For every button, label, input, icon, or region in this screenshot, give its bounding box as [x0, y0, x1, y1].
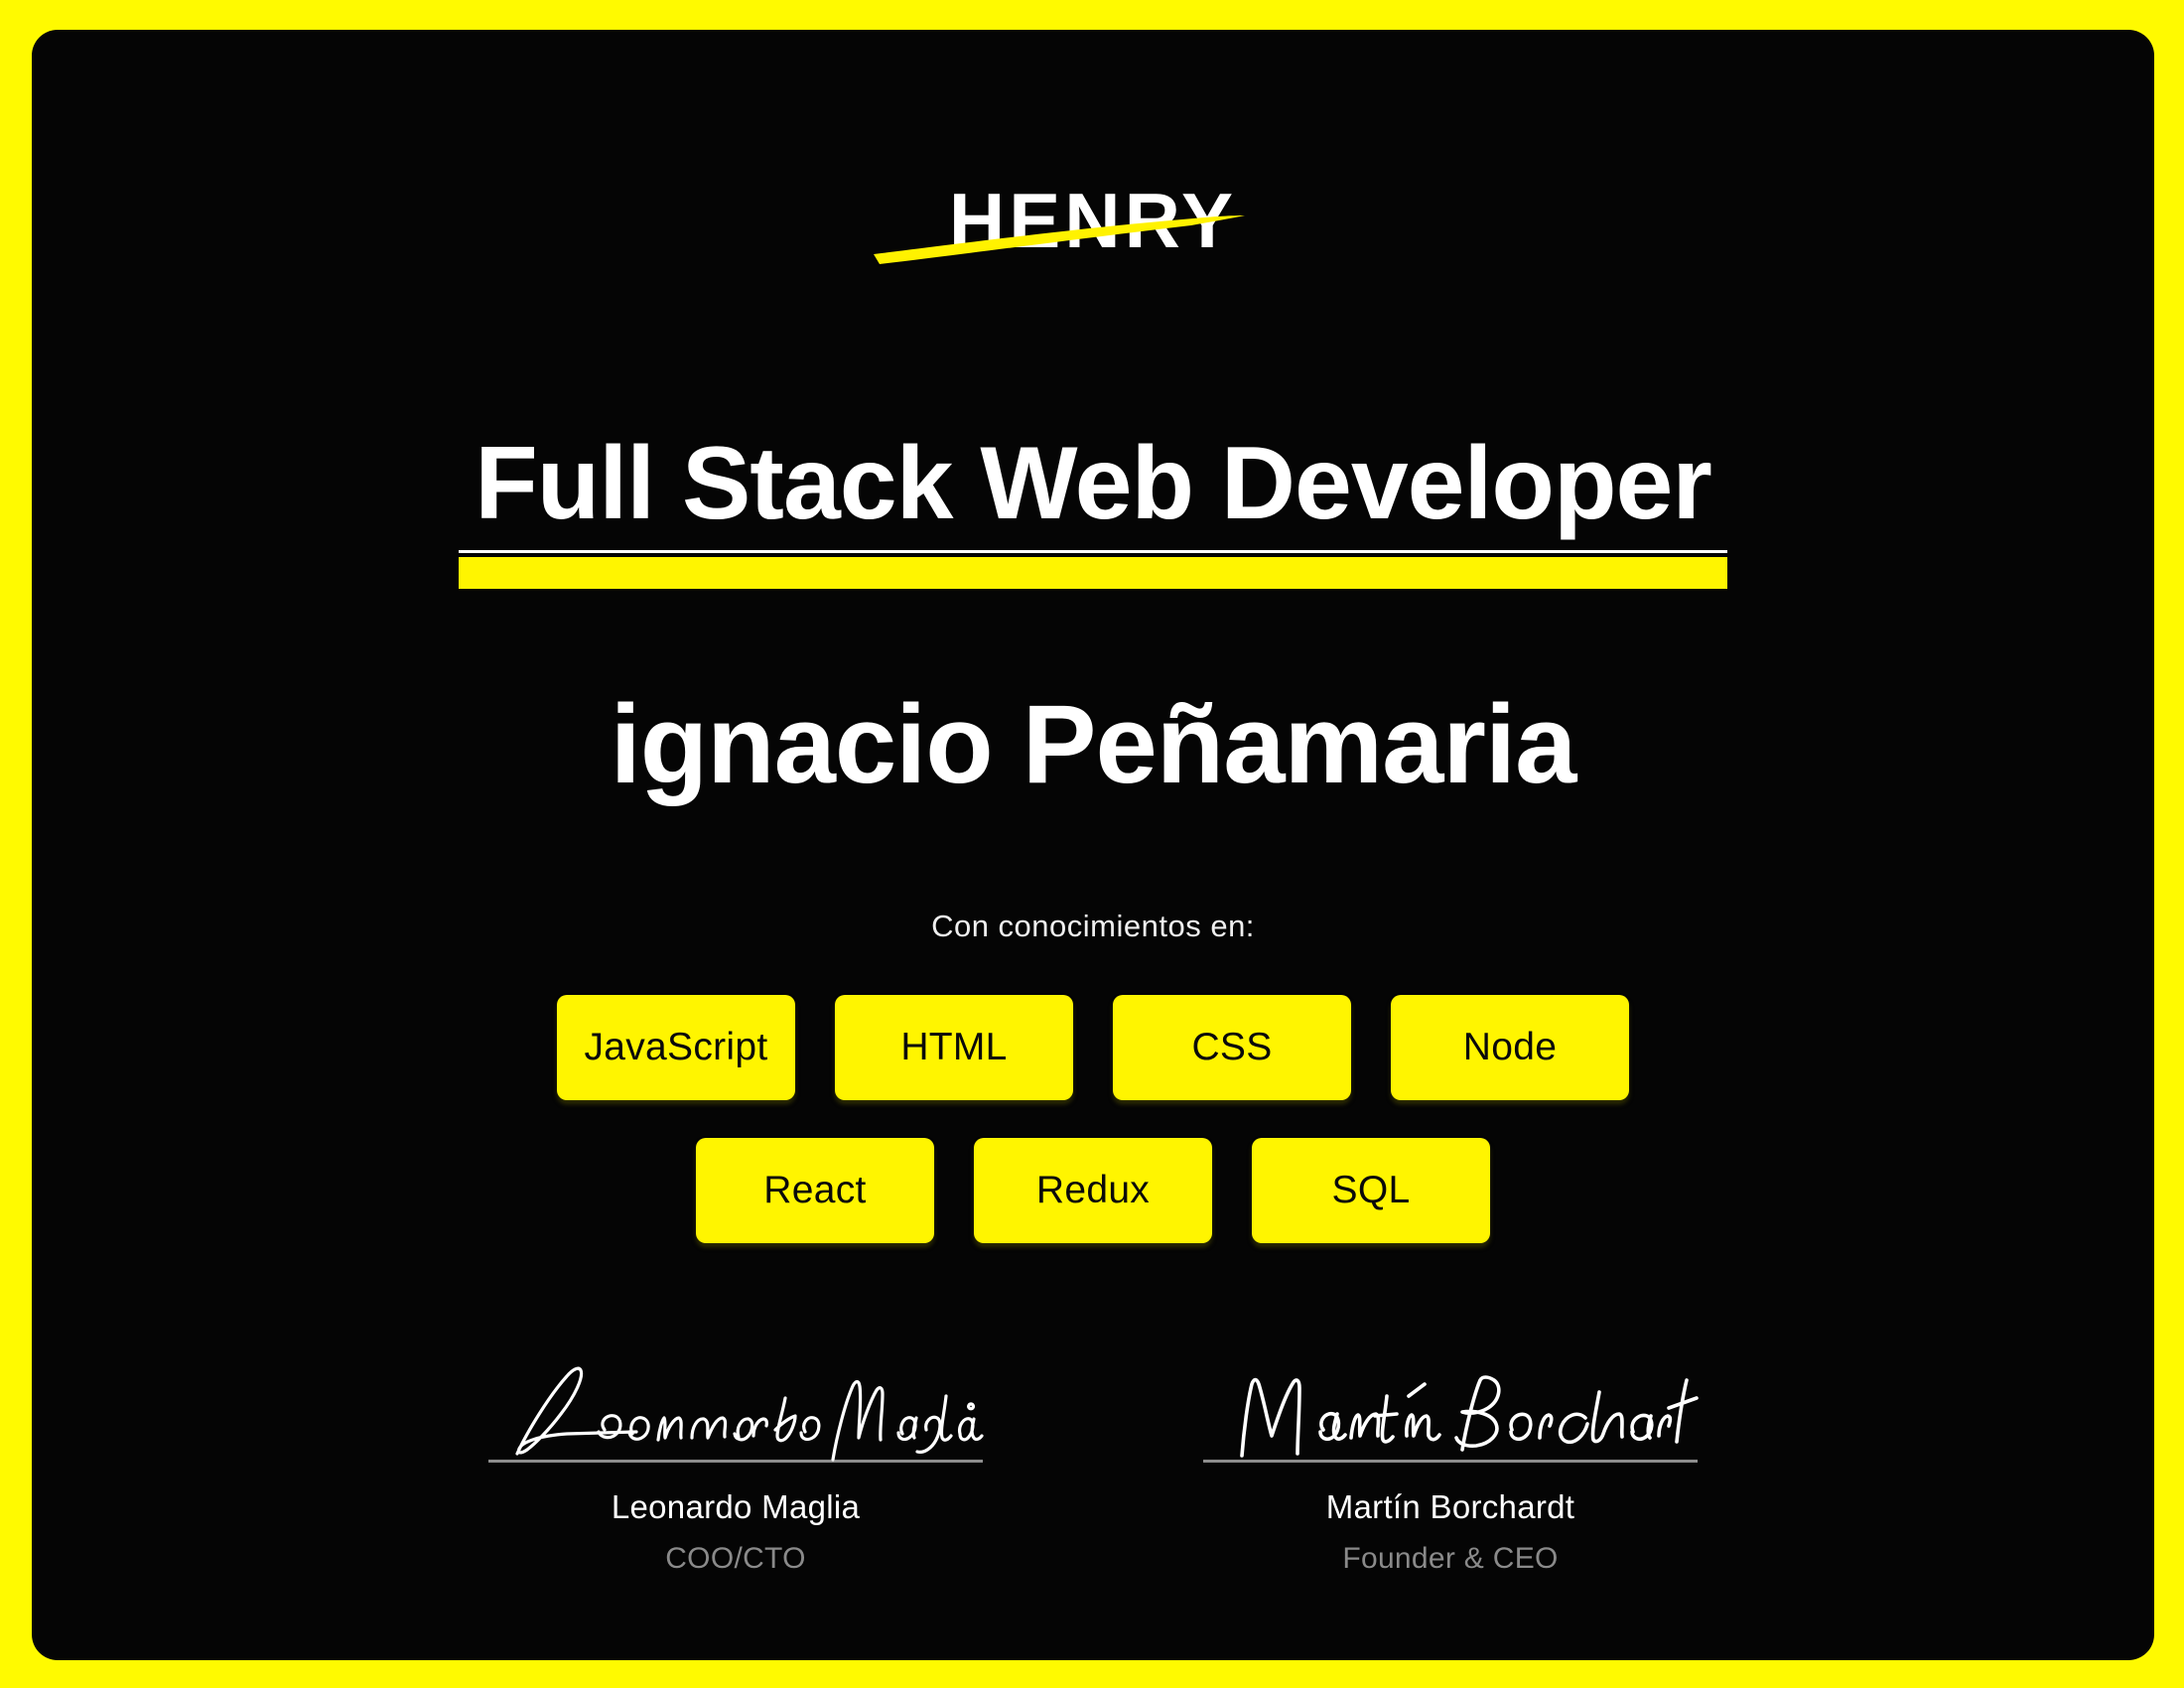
title-underline	[459, 550, 1727, 553]
skill-badge[interactable]: React	[696, 1138, 934, 1243]
signatory-role: Founder & CEO	[1202, 1542, 1699, 1576]
handwritten-signature-icon	[1202, 1350, 1699, 1460]
signature-area: Leonardo Maglia COO/CTO	[32, 1350, 2154, 1576]
signatory-name: Martín Borchardt	[1202, 1488, 1699, 1526]
skills-row-1: JavaScript HTML CSS Node	[32, 995, 2154, 1100]
signature-block-ceo: Martín Borchardt Founder & CEO	[1202, 1350, 1699, 1576]
skill-badge[interactable]: SQL	[1252, 1138, 1490, 1243]
recipient-name: ignacio Peñamaria	[32, 680, 2154, 809]
certificate-title-block: Full Stack Web Developer	[32, 425, 2154, 589]
logo-wordmark: HENRY	[880, 175, 1306, 266]
certificate-card: HENRY Full Stack Web Developer	[32, 30, 2154, 1660]
henry-logo: HENRY	[32, 175, 2154, 266]
title-highlight-bar	[459, 557, 1727, 589]
certificate: HENRY Full Stack Web Developer	[0, 0, 2184, 1688]
skill-badge[interactable]: Redux	[974, 1138, 1212, 1243]
signature-block-coo: Leonardo Maglia COO/CTO	[487, 1350, 984, 1576]
signatory-role: COO/CTO	[487, 1542, 984, 1576]
handwritten-signature-icon	[487, 1350, 984, 1460]
signatory-name: Leonardo Maglia	[487, 1488, 984, 1526]
skill-badge[interactable]: HTML	[835, 995, 1073, 1100]
skill-badge[interactable]: JavaScript	[557, 995, 795, 1100]
page-title: Full Stack Web Developer	[32, 425, 2154, 542]
skill-badge[interactable]: Node	[1391, 995, 1629, 1100]
skills-label: Con conocimientos en:	[32, 909, 2154, 944]
logo-stage: HENRY	[880, 175, 1306, 266]
skills-list: JavaScript HTML CSS Node React Redux SQL	[32, 995, 2154, 1281]
skill-badge[interactable]: CSS	[1113, 995, 1351, 1100]
skills-row-2: React Redux SQL	[32, 1138, 2154, 1243]
